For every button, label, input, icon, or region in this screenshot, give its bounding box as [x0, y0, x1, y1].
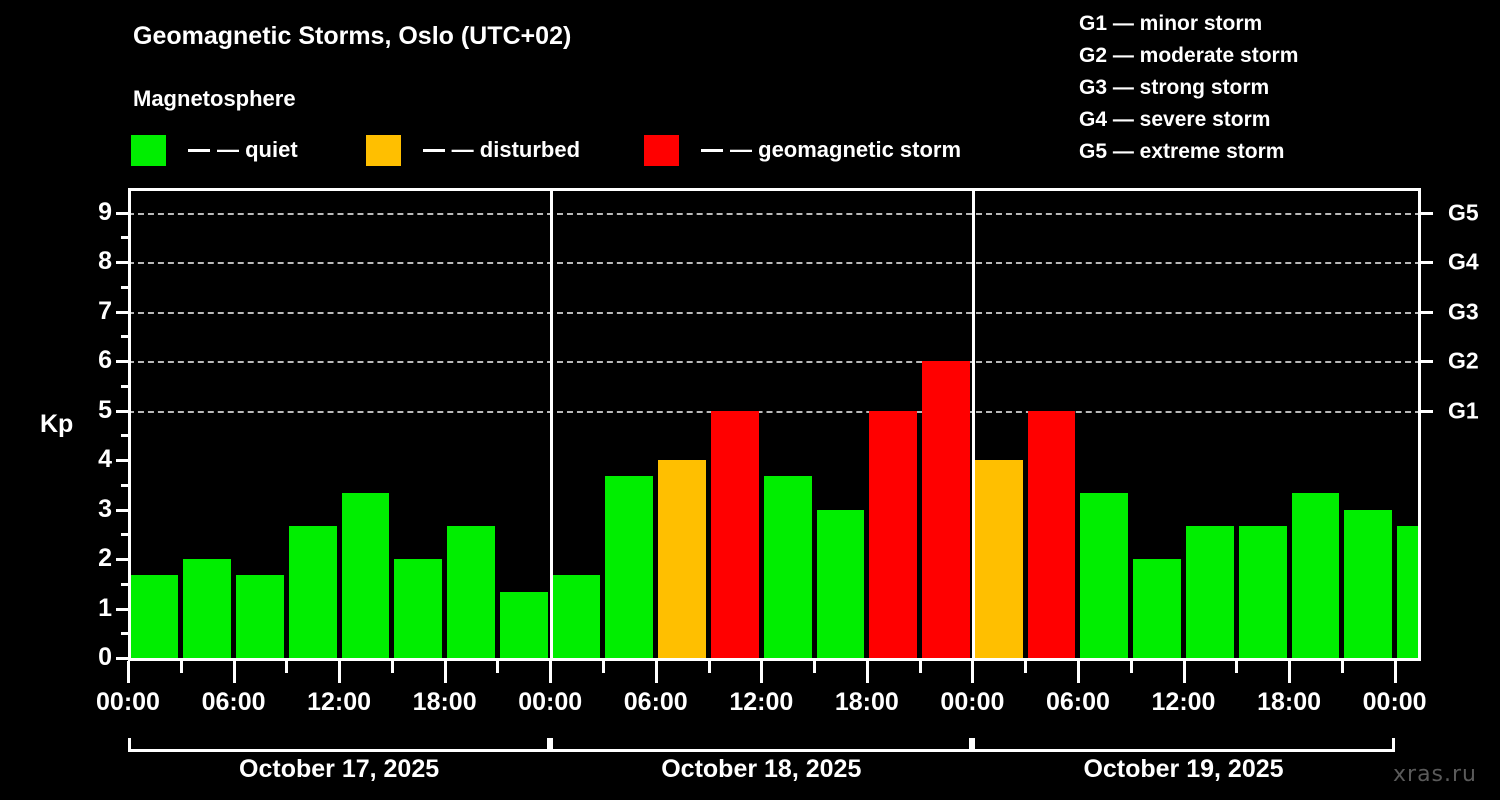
- bar[interactable]: [1080, 493, 1128, 658]
- x-tick-major: [549, 661, 552, 683]
- bar[interactable]: [236, 575, 284, 658]
- x-tick-major: [1394, 661, 1397, 683]
- bar[interactable]: [289, 526, 337, 658]
- legend-dash-icon: [701, 149, 723, 152]
- x-tick-minor: [285, 661, 288, 673]
- y-axis-label-2: 2: [12, 546, 112, 571]
- x-tick-minor: [1024, 661, 1027, 673]
- x-axis-label: 18:00: [1257, 688, 1321, 717]
- bar[interactable]: [605, 476, 653, 658]
- y-tick-4: [116, 459, 128, 462]
- y-tick-9: [116, 212, 128, 215]
- y-axis-label-3: 3: [12, 497, 112, 522]
- bar[interactable]: [447, 526, 495, 658]
- day-bracket-2: [550, 738, 972, 752]
- y-tick-minor: [121, 533, 128, 536]
- g-tick-g1: [1421, 410, 1433, 413]
- y-tick-minor: [121, 286, 128, 289]
- y-tick-minor: [121, 434, 128, 437]
- legend: — quiet — disturbed — geomagnetic storm: [131, 134, 961, 166]
- y-axis-label-4: 4: [12, 447, 112, 472]
- y-tick-minor: [121, 583, 128, 586]
- bar[interactable]: [764, 476, 812, 658]
- x-axis-label: 06:00: [202, 688, 266, 717]
- x-tick-minor: [391, 661, 394, 673]
- bar[interactable]: [1344, 510, 1392, 658]
- y-tick-minor: [121, 632, 128, 635]
- x-tick-minor: [919, 661, 922, 673]
- bar[interactable]: [1292, 493, 1340, 658]
- x-tick-major: [338, 661, 341, 683]
- x-axis-label: 00:00: [1363, 688, 1427, 717]
- day-separator-1: [550, 188, 553, 658]
- legend-label-storm: — geomagnetic storm: [730, 137, 961, 163]
- x-axis-label: 12:00: [307, 688, 371, 717]
- bar[interactable]: [975, 460, 1023, 658]
- day-bracket-1: [128, 738, 550, 752]
- x-axis-label: 06:00: [1046, 688, 1110, 717]
- bar[interactable]: [1133, 559, 1181, 658]
- x-axis-label: 06:00: [624, 688, 688, 717]
- legend-label-quiet: — quiet: [217, 137, 298, 163]
- g-tick-g5: [1421, 212, 1433, 215]
- x-tick-major: [127, 661, 130, 683]
- g-tick-g2: [1421, 360, 1433, 363]
- x-tick-major: [444, 661, 447, 683]
- x-tick-minor: [1130, 661, 1133, 673]
- x-tick-major: [971, 661, 974, 683]
- legend-item-quiet: — quiet: [131, 134, 298, 166]
- y-tick-0: [116, 657, 128, 660]
- y-tick-minor: [121, 335, 128, 338]
- y-tick-2: [116, 558, 128, 561]
- x-tick-major: [760, 661, 763, 683]
- x-tick-major: [655, 661, 658, 683]
- y-tick-minor: [121, 236, 128, 239]
- g-tick-g3: [1421, 311, 1433, 314]
- y-tick-7: [116, 311, 128, 314]
- bar[interactable]: [1028, 411, 1076, 658]
- x-tick-major: [866, 661, 869, 683]
- x-axis: [128, 658, 1421, 661]
- legend-heading: Magnetosphere: [133, 86, 296, 112]
- bar[interactable]: [922, 361, 970, 658]
- gscale-key-line-g5: G5 — extreme storm: [1079, 136, 1298, 168]
- gscale-key: G1 — minor storm G2 — moderate storm G3 …: [1079, 8, 1298, 168]
- y-axis-label-9: 9: [12, 200, 112, 225]
- legend-swatch-disturbed: [366, 135, 401, 166]
- y-tick-minor: [121, 484, 128, 487]
- x-axis-label: 12:00: [729, 688, 793, 717]
- x-axis-label: 00:00: [96, 688, 160, 717]
- bar[interactable]: [500, 592, 548, 658]
- legend-item-disturbed: — disturbed: [366, 134, 580, 166]
- bar[interactable]: [1397, 526, 1418, 658]
- bar[interactable]: [553, 575, 601, 658]
- y-tick-8: [116, 261, 128, 264]
- watermark: xras.ru: [1393, 762, 1477, 787]
- y-axis-label-8: 8: [12, 249, 112, 274]
- legend-swatch-storm: [644, 135, 679, 166]
- y-tick-3: [116, 509, 128, 512]
- g-axis-label-g2: G2: [1448, 348, 1479, 375]
- page-title: Geomagnetic Storms, Oslo (UTC+02): [133, 22, 571, 51]
- day-separator-2: [972, 188, 975, 658]
- y-axis-label-7: 7: [12, 299, 112, 324]
- x-axis-label: 00:00: [518, 688, 582, 717]
- x-tick-major: [1288, 661, 1291, 683]
- x-axis-label: 18:00: [413, 688, 477, 717]
- x-tick-minor: [602, 661, 605, 673]
- x-tick-minor: [1341, 661, 1344, 673]
- x-axis-label: 00:00: [940, 688, 1004, 717]
- bar[interactable]: [394, 559, 442, 658]
- y-axis-label-1: 1: [12, 596, 112, 621]
- y-axis-label-6: 6: [12, 348, 112, 373]
- bar[interactable]: [711, 411, 759, 658]
- g-axis-label-g3: G3: [1448, 298, 1479, 325]
- gscale-key-line-g3: G3 — strong storm: [1079, 72, 1298, 104]
- legend-swatch-quiet: [131, 135, 166, 166]
- gscale-key-line-g2: G2 — moderate storm: [1079, 40, 1298, 72]
- legend-dash-icon: [423, 149, 445, 152]
- g-axis-label-g1: G1: [1448, 397, 1479, 424]
- legend-dash-icon: [188, 149, 210, 152]
- y-tick-1: [116, 608, 128, 611]
- y-tick-5: [116, 410, 128, 413]
- x-tick-major: [1183, 661, 1186, 683]
- y-axis-label-5: 5: [12, 398, 112, 423]
- x-tick-minor: [1235, 661, 1238, 673]
- legend-item-storm: — geomagnetic storm: [644, 134, 961, 166]
- plot-area: [128, 188, 1421, 658]
- bar[interactable]: [658, 460, 706, 658]
- bar[interactable]: [342, 493, 390, 658]
- bar[interactable]: [1239, 526, 1287, 658]
- bar[interactable]: [817, 510, 865, 658]
- y-axis-label-0: 0: [12, 645, 112, 670]
- x-axis-label: 18:00: [835, 688, 899, 717]
- bar[interactable]: [869, 411, 917, 658]
- day-label-3: October 19, 2025: [972, 755, 1394, 784]
- g-axis-label-g5: G5: [1448, 199, 1479, 226]
- gscale-key-line-g4: G4 — severe storm: [1079, 104, 1298, 136]
- x-tick-minor: [708, 661, 711, 673]
- day-label-2: October 18, 2025: [550, 755, 972, 784]
- g-axis-label-g4: G4: [1448, 249, 1479, 276]
- y-tick-minor: [121, 385, 128, 388]
- bar-series: [128, 188, 1421, 658]
- bar[interactable]: [1186, 526, 1234, 658]
- x-tick-minor: [813, 661, 816, 673]
- gscale-key-line-g1: G1 — minor storm: [1079, 8, 1298, 40]
- day-label-1: October 17, 2025: [128, 755, 550, 784]
- x-tick-major: [233, 661, 236, 683]
- x-tick-minor: [180, 661, 183, 673]
- bar[interactable]: [183, 559, 231, 658]
- day-bracket-3: [972, 738, 1394, 752]
- x-axis-label: 12:00: [1152, 688, 1216, 717]
- g-tick-g4: [1421, 261, 1433, 264]
- x-tick-major: [1077, 661, 1080, 683]
- y-tick-6: [116, 360, 128, 363]
- legend-label-disturbed: — disturbed: [452, 137, 580, 163]
- x-tick-minor: [496, 661, 499, 673]
- bar[interactable]: [131, 575, 179, 658]
